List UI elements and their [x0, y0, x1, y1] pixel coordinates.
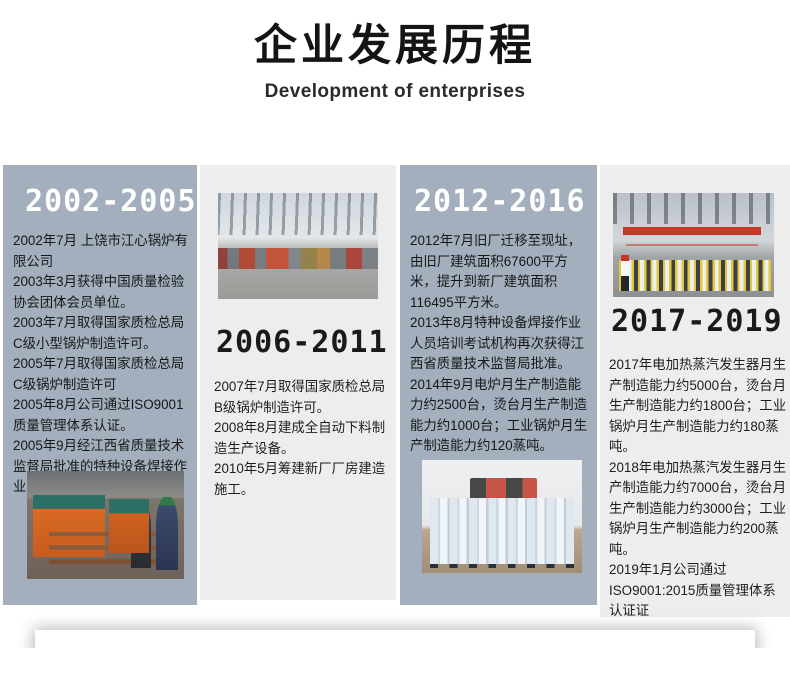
- body-text-2012-2016: 2012年7月旧厂迁移至现址，由旧厂建筑面积67600平方米，提升到新厂建筑面积…: [410, 231, 590, 457]
- page-title-en: Development of enterprises: [0, 81, 790, 103]
- boiler-equipment-photo: [27, 471, 184, 579]
- page-header: 企业发展历程 Development of enterprises: [0, 0, 790, 103]
- team-group-photo: [422, 460, 582, 573]
- timeline-columns: 2002-2005 2002年7月 上饶市江心锅炉有限公司 2003年3月获得中…: [0, 165, 790, 617]
- factory-assembly-photo: [613, 193, 774, 297]
- body-text-2002-2005: 2002年7月 上饶市江心锅炉有限公司 2003年3月获得中国质量检验协会团体会…: [13, 231, 191, 498]
- page-title-cn: 企业发展历程: [0, 22, 790, 71]
- year-label-2006-2011: 2006-2011: [216, 328, 388, 358]
- body-text-2017-2019: 2017年电加热蒸汽发生器月生产制造能力约5000台，烫台月生产制造能力约180…: [609, 355, 787, 622]
- year-label-2012-2016: 2012-2016: [414, 187, 586, 217]
- year-label-2002-2005: 2002-2005: [25, 187, 197, 217]
- year-label-2017-2019: 2017-2019: [611, 307, 783, 337]
- timeline-column-2002-2005: 2002-2005 2002年7月 上饶市江心锅炉有限公司 2003年3月获得中…: [3, 165, 197, 605]
- timeline-column-2017-2019: 2017-2019 2017年电加热蒸汽发生器月生产制造能力约5000台，烫台月…: [600, 165, 790, 617]
- timeline-column-2012-2016: 2012-2016 2012年7月旧厂迁移至现址，由旧厂建筑面积67600平方米…: [400, 165, 597, 605]
- bottom-shadow-mask: [0, 648, 790, 678]
- body-text-2006-2011: 2007年7月取得国家质检总局B级锅炉制造许可。 2008年8月建成全自动下料制…: [214, 377, 390, 500]
- timeline-column-2006-2011: 2006-2011 2007年7月取得国家质检总局B级锅炉制造许可。 2008年…: [200, 165, 396, 600]
- workshop-interior-photo: [218, 193, 378, 299]
